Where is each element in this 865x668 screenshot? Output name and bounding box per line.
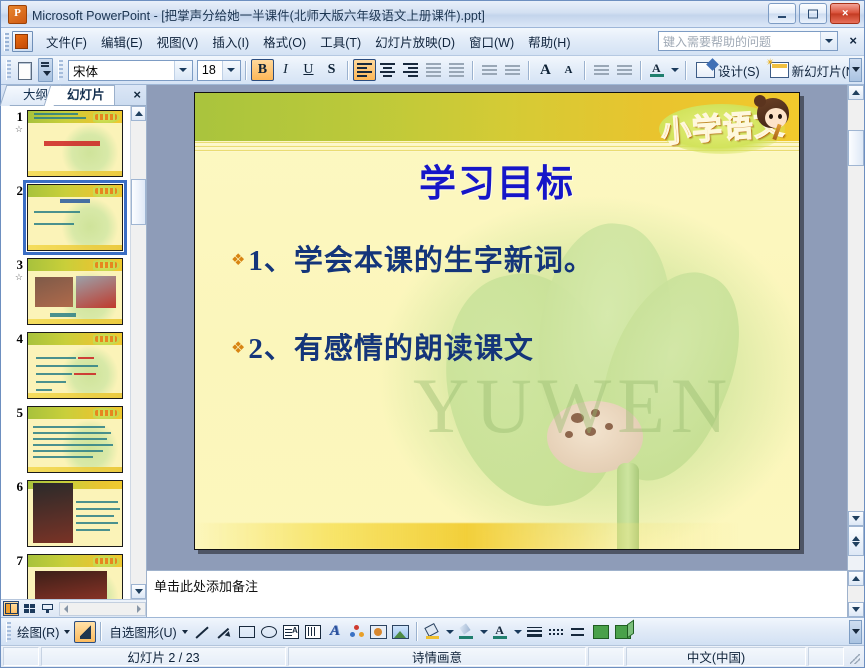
font-name-combo[interactable]: 宋体 [68,60,193,81]
list-item[interactable]: 5 [1,406,130,473]
decrease-font-size-button[interactable]: A [557,59,580,81]
vertical-text-box-icon [305,625,321,639]
list-item[interactable]: 4 [1,332,130,399]
numbering-button[interactable] [478,59,501,81]
font-color-icon [493,625,508,639]
slide-number: 1☆ [3,110,27,134]
chevron-down-icon [480,630,488,634]
slide-thumbnail-5[interactable] [27,406,123,473]
line-button[interactable] [192,621,214,643]
animation-icon: ☆ [3,124,23,134]
notes-pane[interactable]: 单击此处添加备注 [147,570,847,617]
chevron-down-icon [446,630,454,634]
increase-font-icon: A [540,62,551,79]
bold-button[interactable]: B [251,59,274,81]
status-spacer-mid [588,647,624,666]
increase-indent-icon [617,65,632,75]
wordart-icon: A [330,623,340,640]
slide-footer-glow [195,523,799,549]
align-right-button[interactable] [399,59,422,81]
diagram-button[interactable] [346,621,368,643]
insert-picture-icon [392,625,409,639]
list-item[interactable]: 7 [1,554,130,599]
scroll-track[interactable] [131,121,146,584]
justify-icon [426,63,441,77]
thumbnail-list[interactable]: 1☆ 2 [1,106,146,599]
toolbar-grip-1[interactable] [6,60,11,80]
slide-number: 3☆ [3,258,27,282]
clip-art-icon [370,625,387,639]
slides-pane: 大纲 幻灯片 × 1☆ [1,85,147,617]
font-color-dropdown[interactable] [669,59,681,81]
menu-view[interactable]: 视图(V) [150,28,206,55]
formatting-toolbar-overflow[interactable] [849,58,862,82]
3d-style-button[interactable] [612,621,634,643]
align-right-icon [403,63,418,77]
previous-slide-icon[interactable] [852,536,860,541]
font-color-button-draw[interactable] [490,621,512,643]
line-color-icon [459,625,474,639]
slide-counter: 幻灯片 2 / 23 [41,647,286,666]
bullet-text: 1、学会本课的生字新词。 [248,241,594,281]
toolbar-separator-5 [584,61,586,80]
design-icon [696,62,715,78]
work-area: 大纲 幻灯片 × 1☆ [1,85,864,617]
list-item[interactable]: 3☆ [1,258,130,325]
scroll-right-button[interactable] [133,605,145,613]
scroll-up-button[interactable] [131,106,146,121]
status-spacer-left [3,647,39,666]
slide-thumbnail-4[interactable] [27,332,123,399]
drawing-toolbar: 绘图(R) 自选图形(U) A [1,617,864,645]
scroll-thumb[interactable] [848,130,864,166]
clip-art-button[interactable] [368,621,390,643]
wordart-button[interactable]: A [324,621,346,643]
line-style-button[interactable] [524,621,546,643]
dash-style-icon [549,626,564,638]
slide-number: 5 [3,406,27,420]
align-left-button[interactable] [353,59,376,81]
rectangle-button[interactable] [236,621,258,643]
powerpoint-icon [8,5,27,24]
chevron-up-icon [852,576,860,581]
line-spacing-button[interactable] [445,59,468,81]
design-template-name: 诗情画意 [288,647,586,666]
fill-color-button[interactable] [422,621,444,643]
autoshapes-menu-button[interactable]: 自选图形(U) [106,622,179,641]
toolbar-separator-2 [347,61,349,80]
rectangle-icon [239,626,255,638]
slide-thumbnail-2[interactable] [27,184,123,251]
chevron-down-icon [227,68,235,72]
list-item[interactable]: 2 [1,184,130,251]
arrow-button[interactable] [214,621,236,643]
normal-view-icon [5,603,18,614]
menu-help[interactable]: 帮助(H) [521,28,577,55]
menu-format[interactable]: 格式(O) [256,28,313,55]
view-switcher [1,599,146,617]
chevron-down-icon [514,630,522,634]
select-objects-button[interactable] [74,621,96,643]
numbering-icon [482,65,497,75]
align-center-icon [380,63,395,77]
scroll-down-button[interactable] [848,511,864,526]
vertical-text-box-button[interactable] [302,621,324,643]
previous-next-slide-buttons[interactable] [848,526,864,556]
resize-grip[interactable] [846,647,862,666]
slide-title[interactable]: 学习目标 [195,153,799,207]
current-slide[interactable]: 小学语文 学习目标 ❖ 1、学会本课的生字新词。 [194,92,800,550]
slide-show-icon [42,604,53,613]
menu-file[interactable]: 文件(F) [39,28,94,55]
close-icon: × [840,8,851,19]
list-item[interactable]: 1☆ [1,110,130,177]
ask-a-question-placeholder: 键入需要帮助的问题 [659,33,820,50]
slide-thumbnail-1[interactable] [27,110,123,177]
slide-thumbnail-6[interactable] [27,480,123,547]
chevron-left-icon [64,605,68,613]
chevron-down-icon [852,516,860,521]
chevron-up-icon [852,90,860,95]
list-item[interactable]: 6 [1,480,130,547]
insert-picture-button[interactable] [390,621,412,643]
diagram-icon [350,625,364,638]
menu-window[interactable]: 窗口(W) [462,28,521,55]
fill-color-dropdown[interactable] [444,621,456,643]
status-spacer-right [808,647,844,666]
menu-tools[interactable]: 工具(T) [313,28,368,55]
increase-indent-button[interactable] [613,59,636,81]
line-color-dropdown[interactable] [478,621,490,643]
text-box-icon [283,625,299,639]
shadow-style-icon [593,625,609,639]
slide-thumbnail-7[interactable] [27,554,123,599]
drawing-toolbar-overflow[interactable] [849,620,862,644]
underline-button[interactable]: U [297,59,320,81]
dash-style-button[interactable] [546,621,568,643]
chevron-down-icon [179,68,187,72]
font-color-dropdown-draw[interactable] [512,621,524,643]
italic-button[interactable]: I [274,59,297,81]
decrease-indent-icon [594,65,609,75]
notes-scroll-up-button[interactable] [848,571,864,586]
normal-view-button[interactable] [3,601,19,616]
thumbnail-scrollbar[interactable] [130,106,146,599]
chevron-down-icon [135,589,143,594]
document-icon [12,31,33,52]
girl-mascot-icon [753,94,793,138]
line-color-button[interactable] [456,621,478,643]
drawing-toolbar-grip[interactable] [6,622,11,642]
bullet-marker-icon: ❖ [231,241,245,281]
bullets-icon [505,65,520,75]
slide-sorter-icon [24,604,35,613]
arrow-style-button[interactable] [568,621,590,643]
toolbar-grip-2[interactable] [58,60,63,80]
3d-style-icon [615,625,631,639]
justify-button[interactable] [422,59,445,81]
chevron-up-icon [135,111,143,116]
next-slide-icon[interactable] [852,542,860,547]
select-arrow-icon [80,625,91,639]
align-left-icon [357,63,372,77]
font-size-combo[interactable]: 18 [197,60,241,81]
chevron-down-icon [825,39,833,43]
new-slide-icon [770,62,789,78]
font-name-value: 宋体 [69,61,174,80]
maximize-button[interactable] [799,3,827,24]
chevron-down-icon [852,607,860,612]
chevron-down-icon[interactable] [64,630,70,634]
font-size-value: 18 [198,63,222,77]
title-bar: Microsoft PowerPoint - [把掌声分给她一半课件(北师大版六… [1,1,864,28]
scroll-down-button[interactable] [131,584,146,599]
bullet-item: ❖ 1、学会本课的生字新词。 [231,241,759,281]
toolbar-overflow-button[interactable] [38,58,53,82]
slide-number: 6 [3,480,27,494]
line-icon [196,625,210,639]
pane-tabs: 大纲 幻灯片 × [1,85,146,106]
text-box-button[interactable] [280,621,302,643]
ask-a-question-box[interactable]: 键入需要帮助的问题 [658,31,838,51]
notes-scrollbar[interactable] [848,570,864,617]
menu-bar: 文件(F) 编辑(E) 视图(V) 插入(I) 格式(O) 工具(T) 幻灯片放… [1,28,864,56]
formatting-toolbar: 宋体 18 B I U S A A [1,56,864,85]
slide-thumbnail-3[interactable] [27,258,123,325]
scroll-thumb[interactable] [131,179,146,225]
chevron-right-icon [137,605,141,613]
scrollbar-spacer [848,556,864,570]
font-color-icon [650,63,665,77]
toolbar-separator-6 [640,61,642,80]
minimize-button[interactable] [768,3,796,24]
slide-scrollbar[interactable] [847,85,864,617]
bullet-marker-icon: ❖ [231,329,245,369]
horizontal-scrollbar[interactable] [59,602,146,616]
line-spacing-icon [449,63,464,77]
subject-logo: 小学语文 [659,94,795,162]
drawing-separator-2 [416,622,418,641]
notes-placeholder: 单击此处添加备注 [147,571,265,600]
increase-font-size-button[interactable]: A [534,59,557,81]
decrease-indent-button[interactable] [590,59,613,81]
fill-color-icon [425,625,440,639]
close-pane-icon[interactable]: × [133,87,141,102]
slide-sorter-view-button[interactable] [21,601,37,616]
window-controls: × [768,3,860,24]
language-indicator: 中文(中国) [626,647,806,666]
arrow-icon [218,625,232,639]
line-style-icon [527,626,542,638]
font-color-button[interactable] [646,59,669,81]
menu-insert[interactable]: 插入(I) [205,28,256,55]
slide-watermark: YUWEN [413,361,733,451]
design-button[interactable]: 设计(S) [691,59,765,81]
font-size-dropdown[interactable] [222,61,240,80]
text-shadow-button[interactable]: S [320,59,343,81]
powerpoint-window: Microsoft PowerPoint - [把掌声分给她一半课件(北师大版六… [0,0,865,668]
window-title: Microsoft PowerPoint - [把掌声分给她一半课件(北师大版六… [32,5,485,24]
menu-slideshow[interactable]: 幻灯片放映(D) [368,28,462,55]
toolbar-separator-1 [245,61,247,80]
ask-a-question-dropdown[interactable] [820,32,837,50]
menu-edit[interactable]: 编辑(E) [94,28,150,55]
slide-number: 2 [3,184,27,198]
slide-number: 7 [3,554,27,568]
oval-button[interactable] [258,621,280,643]
chevron-down-icon[interactable] [182,630,188,634]
toolbar-separator-3 [472,61,474,80]
status-bar: 幻灯片 2 / 23 诗情画意 中文(中国) [1,645,864,667]
animation-icon: ☆ [3,272,23,282]
font-name-dropdown[interactable] [174,61,192,80]
drawing-separator-1 [100,622,102,641]
bullets-button[interactable] [501,59,524,81]
close-help-icon[interactable]: × [849,33,857,48]
scroll-track[interactable] [848,100,864,511]
scroll-left-button[interactable] [60,605,72,613]
slide-canvas[interactable]: 小学语文 学习目标 ❖ 1、学会本课的生字新词。 [147,85,847,570]
draw-menu-button[interactable]: 绘图(R) [14,622,62,641]
decrease-font-icon: A [564,64,572,76]
toolbar-separator-4 [528,61,530,80]
slide-number: 4 [3,332,27,346]
tab-slides[interactable]: 幻灯片 [53,85,115,105]
scroll-up-button[interactable] [848,85,864,100]
design-label: 设计(S) [718,61,760,80]
notes-scroll-track[interactable] [848,586,864,602]
align-center-button[interactable] [376,59,399,81]
chevron-down-icon [671,68,679,72]
shadow-style-button[interactable] [590,621,612,643]
menubar-grip[interactable] [4,33,9,51]
toolbar-separator-7 [685,61,687,80]
oval-icon [261,626,277,638]
new-document-icon[interactable] [14,60,34,81]
editing-pane: 小学语文 学习目标 ❖ 1、学会本课的生字新词。 [147,85,847,617]
notes-scroll-down-button[interactable] [848,602,864,617]
close-button[interactable]: × [830,3,860,24]
arrow-style-icon [571,626,586,638]
slide-show-view-button[interactable] [39,601,55,616]
